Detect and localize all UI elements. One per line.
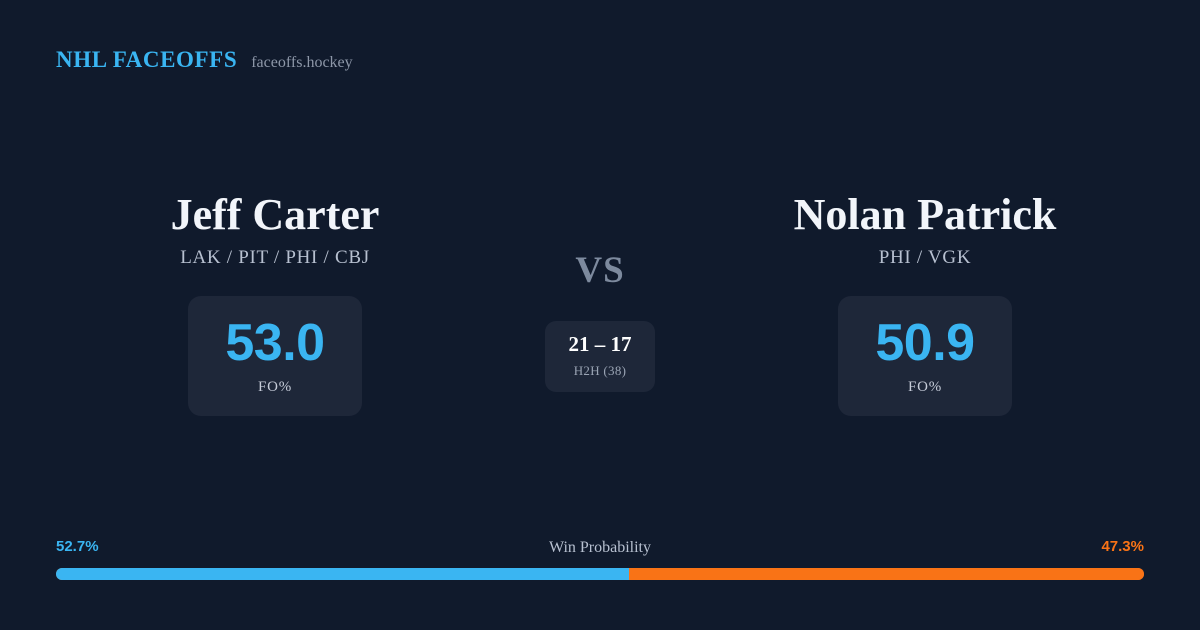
right-faceoff-stat-label: FO%: [908, 379, 942, 396]
win-probability-bar-left-segment: [56, 568, 629, 580]
site-header: NHL FACEOFFS faceoffs.hockey: [56, 47, 353, 73]
vs-label: VS: [575, 252, 624, 289]
matchup-section: Jeff Carter LAK / PIT / PHI / CBJ 53.0 F…: [0, 190, 1200, 416]
right-faceoff-stat-card: 50.9 FO%: [838, 296, 1012, 416]
left-player-teams: LAK / PIT / PHI / CBJ: [180, 247, 370, 269]
right-faceoff-percentage: 50.9: [875, 317, 974, 369]
right-player-name[interactable]: Nolan Patrick: [794, 190, 1057, 239]
head-to-head-label: H2H (38): [574, 363, 627, 379]
win-probability-bar: [56, 568, 1144, 580]
brand-domain: faceoffs.hockey: [251, 54, 352, 72]
left-faceoff-stat-label: FO%: [258, 379, 292, 396]
left-player-block: Jeff Carter LAK / PIT / PHI / CBJ 53.0 F…: [60, 190, 490, 416]
head-to-head-score: 21 – 17: [569, 334, 632, 355]
win-probability-labels: 52.7% Win Probability 47.3%: [56, 538, 1144, 560]
versus-block: VS 21 – 17 H2H (38): [490, 190, 710, 392]
win-probability-bar-right-segment: [629, 568, 1144, 580]
head-to-head-card: 21 – 17 H2H (38): [545, 321, 655, 392]
left-faceoff-stat-card: 53.0 FO%: [188, 296, 362, 416]
left-faceoff-percentage: 53.0: [225, 317, 324, 369]
left-player-name[interactable]: Jeff Carter: [171, 190, 380, 239]
right-player-teams: PHI / VGK: [879, 247, 972, 269]
win-probability-section: 52.7% Win Probability 47.3%: [56, 538, 1144, 580]
right-player-block: Nolan Patrick PHI / VGK 50.9 FO%: [710, 190, 1140, 416]
brand-title[interactable]: NHL FACEOFFS: [56, 47, 237, 73]
right-win-probability-value: 47.3%: [1101, 538, 1144, 555]
win-probability-title: Win Probability: [56, 539, 1144, 557]
